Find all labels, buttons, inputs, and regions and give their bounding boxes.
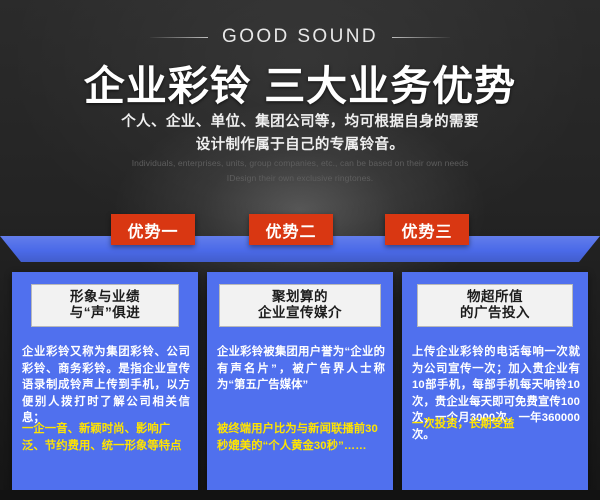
card-3-highlight: 一次投资，长期受益 [412,416,580,433]
card-3-title-line-2: 的广告投入 [428,305,562,321]
bottom-edge [0,490,600,500]
promo-banner: GOOD SOUND 企业彩铃 三大业务优势 个人、企业、单位、集团公司等，均可… [0,0,600,500]
card-2-highlight: 被终端用户比为与新闻联播前30秒媲美的“个人黄金30秒”…… [217,421,385,454]
subtitle-en-line-1: Individuals, enterprises, units, group c… [0,158,600,168]
card-1-title: 形象与业绩 与“声”俱进 [31,284,179,327]
card-2-title-line-2: 企业宣传媒介 [230,305,370,321]
card-2-body: 企业彩铃被集团用户誉为“企业的有声名片”，被广告界人士称为“第五广告媒体” [217,344,385,394]
tab-advantage-3[interactable]: 优势三 [385,214,469,245]
subtitle-en-line-2: IDesign their own exclusive ringtones. [0,173,600,183]
subtitle-cn-line-1: 个人、企业、单位、集团公司等，均可根据自身的需要 [0,110,600,131]
tab-advantage-1[interactable]: 优势一 [111,214,195,245]
card-1-title-line-1: 形象与业绩 [42,289,168,305]
card-3-title: 物超所值 的广告投入 [417,284,573,327]
advantage-card-3[interactable]: 物超所值 的广告投入 上传企业彩铃的电话每响一次就为公司宣传一次；加入贵企业有1… [402,272,588,490]
card-2-title: 聚划算的 企业宣传媒介 [219,284,381,327]
card-1-highlight: 一企一音、新颖时尚、影响广泛、节约费用、统一形象等特点 [22,421,190,454]
card-1-body: 企业彩铃又称为集团彩铃、公司彩铃、商务彩铃。是指企业宣传语录制成铃声上传到手机，… [22,344,190,427]
card-1-title-line-2: 与“声”俱进 [42,305,168,321]
eyebrow-divider-right [392,37,450,38]
card-2-title-line-1: 聚划算的 [230,289,370,305]
tab-advantage-2[interactable]: 优势二 [249,214,333,245]
page-title: 企业彩铃 三大业务优势 [0,52,600,112]
subtitle-cn-line-2: 设计制作属于自己的专属铃音。 [0,133,600,154]
card-3-title-line-1: 物超所值 [428,289,562,305]
eyebrow-text: GOOD SOUND [222,26,378,48]
eyebrow-divider-left [150,37,208,38]
advantage-card-1[interactable]: 形象与业绩 与“声”俱进 企业彩铃又称为集团彩铃、公司彩铃、商务彩铃。是指企业宣… [12,272,198,490]
eyebrow-row: GOOD SOUND [0,26,600,48]
advantage-card-2[interactable]: 聚划算的 企业宣传媒介 企业彩铃被集团用户誉为“企业的有声名片”，被广告界人士称… [207,272,393,490]
